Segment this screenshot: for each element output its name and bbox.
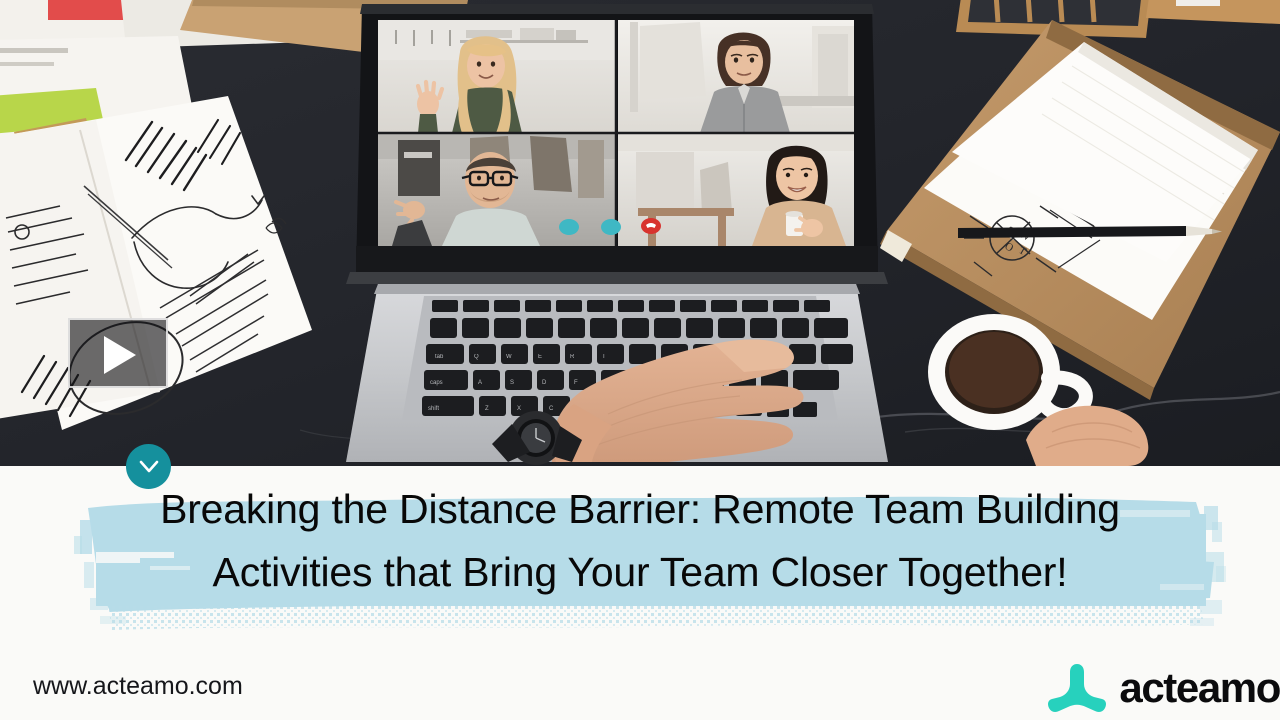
site-url[interactable]: www.acteamo.com — [33, 672, 243, 701]
svg-text:tab: tab — [435, 354, 444, 360]
video-call-grid — [378, 20, 854, 246]
svg-text:W: W — [506, 354, 512, 360]
svg-text:Q: Q — [474, 354, 479, 360]
svg-text:T: T — [602, 354, 606, 360]
svg-text:A: A — [478, 380, 482, 386]
svg-text:Z: Z — [485, 406, 489, 412]
brand-logo[interactable]: acteamo — [1046, 656, 1280, 720]
acteamo-logo-icon — [1046, 662, 1108, 714]
title-line-2: Activities that Bring Your Team Closer T… — [60, 541, 1220, 604]
participant-tile-1 — [378, 20, 616, 133]
svg-text:caps: caps — [430, 380, 443, 386]
svg-text:S: S — [510, 380, 514, 386]
svg-text:X: X — [517, 406, 521, 412]
camera-button — [601, 219, 621, 235]
participant-tile-3 — [378, 133, 616, 246]
footer-bar: www.acteamo.com acteamo — [0, 656, 1280, 720]
title-block: Breaking the Distance Barrier: Remote Te… — [0, 466, 1280, 656]
svg-text:R: R — [570, 354, 575, 360]
svg-text:D: D — [542, 380, 547, 386]
participant-tile-2 — [618, 20, 854, 133]
svg-text:E: E — [538, 354, 542, 360]
svg-text:F: F — [574, 380, 578, 386]
play-triangle-icon — [104, 336, 136, 374]
slide-root: tabQW ERT capsAS DF shiftZX CV — [0, 0, 1280, 720]
chevron-down-icon — [137, 456, 161, 478]
svg-text:shift: shift — [428, 406, 439, 412]
title-line-1: Breaking the Distance Barrier: Remote Te… — [60, 478, 1220, 541]
page-title: Breaking the Distance Barrier: Remote Te… — [60, 478, 1220, 604]
call-controls — [559, 218, 661, 235]
hero-video-thumbnail[interactable]: tabQW ERT capsAS DF shiftZX CV — [0, 0, 1280, 466]
svg-text:C: C — [549, 406, 554, 412]
brand-name: acteamo — [1119, 667, 1280, 709]
play-button[interactable] — [68, 318, 168, 388]
scroll-down-button[interactable] — [126, 444, 171, 489]
laptop: tabQW ERT capsAS DF shiftZX CV — [346, 4, 888, 465]
microphone-button — [559, 219, 579, 235]
hero-scene-illustration: tabQW ERT capsAS DF shiftZX CV — [0, 0, 1280, 466]
